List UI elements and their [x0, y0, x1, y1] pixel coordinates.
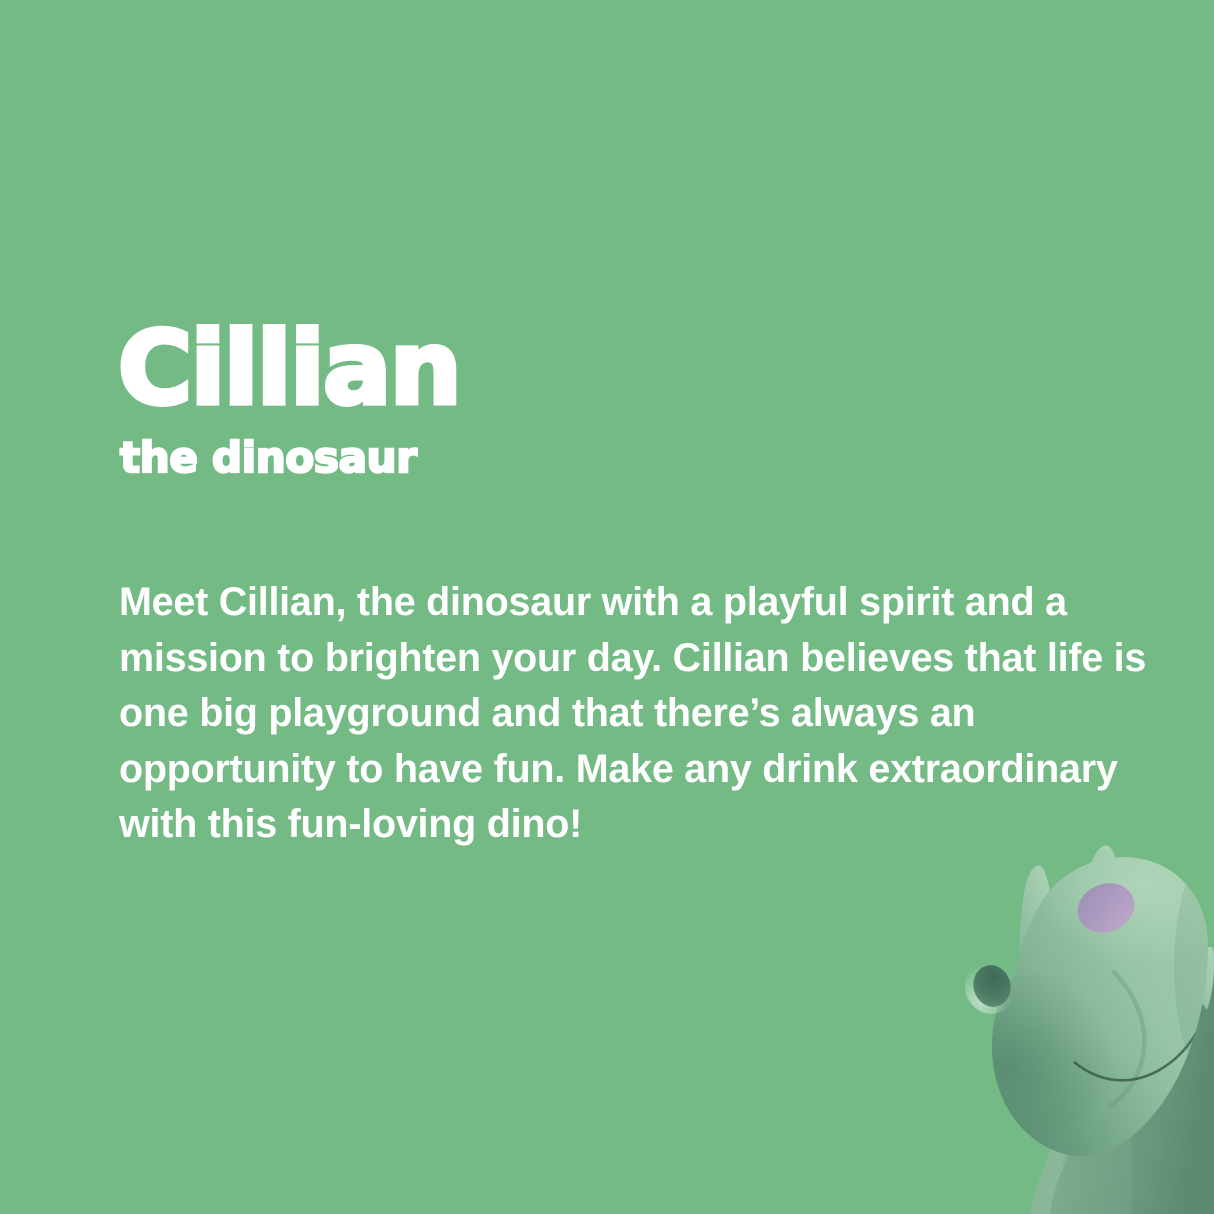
page-title: Cillian	[118, 318, 1178, 419]
character-card: Cillian the dinosaur Meet Cillian, the d…	[0, 0, 1214, 1214]
dinosaur-illustration	[918, 796, 1214, 1214]
character-text-block: Cillian the dinosaur Meet Cillian, the d…	[118, 318, 1178, 853]
character-role-subtitle: the dinosaur	[120, 437, 1178, 479]
